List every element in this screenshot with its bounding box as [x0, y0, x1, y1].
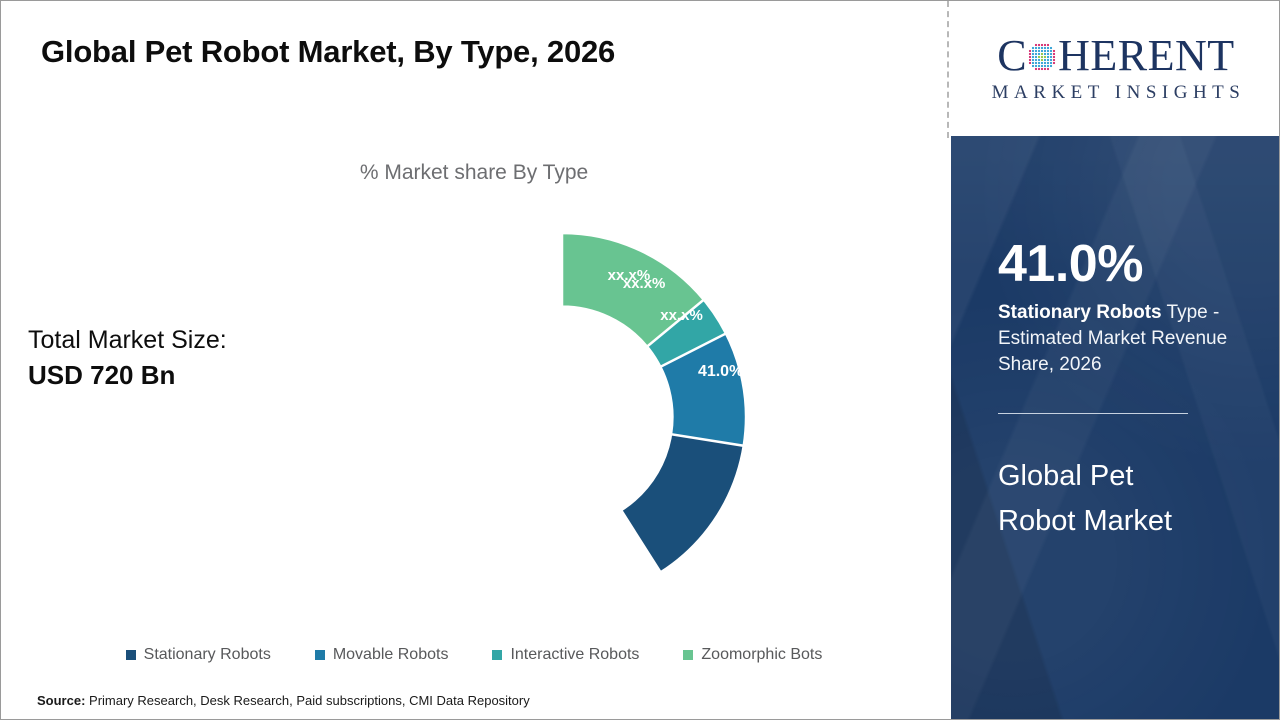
market-name: Global Pet Robot Market	[998, 454, 1248, 544]
market-name-line-1: Global Pet	[998, 454, 1248, 499]
legend-item[interactable]: Interactive Robots	[492, 646, 639, 664]
donut-slice-label: 41.0%	[698, 363, 743, 380]
legend-item[interactable]: Stationary Robots	[126, 646, 271, 664]
right-rail: C HERENT MARKET INSIGHTS 41.0% Stationar…	[951, 1, 1280, 720]
vertical-dashed-divider	[947, 1, 949, 138]
chart-legend: Stationary RobotsMovable RobotsInteracti…	[1, 646, 947, 664]
logo-wordmark-rest: HERENT	[1058, 34, 1235, 78]
donut-chart-svg: 41.0%xx.x%xx.x%xx.x%	[376, 231, 748, 603]
page-title: Global Pet Robot Market, By Type, 2026	[41, 34, 615, 70]
stat-description-segment: Stationary Robots	[998, 302, 1162, 323]
legend-label: Zoomorphic Bots	[701, 646, 822, 664]
legend-item[interactable]: Movable Robots	[315, 646, 449, 664]
legend-swatch-icon	[492, 650, 502, 660]
legend-label: Stationary Robots	[144, 646, 271, 664]
market-name-line-2: Robot Market	[998, 499, 1248, 544]
legend-label: Movable Robots	[333, 646, 449, 664]
legend-swatch-icon	[683, 650, 693, 660]
legend-swatch-icon	[315, 650, 325, 660]
dotted-sphere-icon	[1027, 42, 1057, 72]
infographic-canvas: Global Pet Robot Market, By Type, 2026 %…	[0, 0, 1280, 720]
logo-letter-c: C	[997, 34, 1027, 78]
brand-logo: C HERENT MARKET INSIGHTS	[951, 1, 1280, 136]
logo-wordmark: C HERENT	[997, 34, 1234, 78]
legend-swatch-icon	[126, 650, 136, 660]
stat-description: Stationary Robots Type - Estimated Marke…	[998, 300, 1253, 378]
rail-divider-rule	[998, 413, 1188, 414]
total-market-size-block: Total Market Size: USD 720 Bn	[28, 323, 227, 393]
source-text: Primary Research, Desk Research, Paid su…	[85, 693, 529, 708]
source-note: Source: Primary Research, Desk Research,…	[37, 693, 530, 708]
logo-tagline: MARKET INSIGHTS	[987, 82, 1246, 104]
stat-headline-value: 41.0%	[998, 236, 1263, 292]
left-content-panel: Global Pet Robot Market, By Type, 2026 %…	[1, 1, 947, 720]
source-label: Source:	[37, 693, 85, 708]
legend-label: Interactive Robots	[510, 646, 639, 664]
stat-panel: 41.0% Stationary Robots Type - Estimated…	[951, 136, 1280, 720]
chart-subtitle: % Market share By Type	[1, 161, 947, 185]
legend-item[interactable]: Zoomorphic Bots	[683, 646, 822, 664]
total-market-size-value: USD 720 Bn	[28, 357, 227, 393]
total-market-size-label: Total Market Size:	[28, 323, 227, 357]
donut-chart: 41.0%xx.x%xx.x%xx.x%	[376, 231, 748, 603]
donut-slice-label: xx.x%	[608, 267, 651, 284]
donut-slice-label: xx.x%	[660, 307, 703, 324]
